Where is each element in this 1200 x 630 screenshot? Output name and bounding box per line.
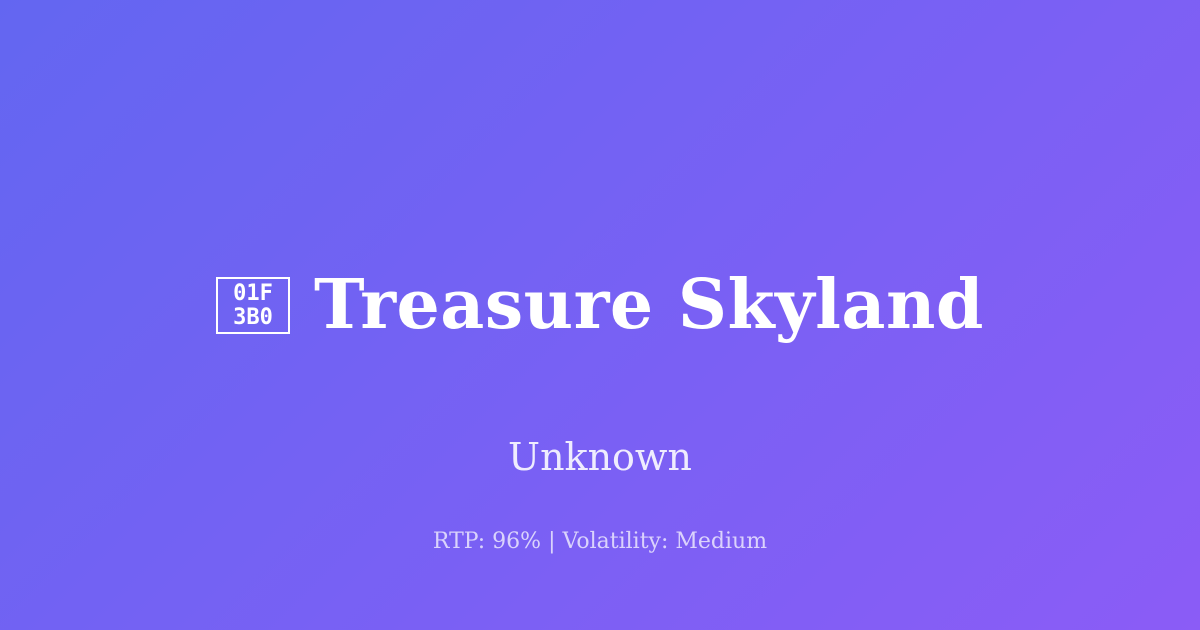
game-stats-line: RTP: 96% | Volatility: Medium — [0, 529, 1200, 555]
game-provider-subtitle: Unknown — [508, 437, 692, 479]
slot-machine-icon-codepoint-bottom: 3B0 — [233, 306, 273, 330]
slot-machine-icon-codepoint-top: 01F — [233, 282, 273, 306]
hero-section: 01F 3B0 Treasure Skyland Unknown — [0, 225, 1200, 479]
game-preview-card: 01F 3B0 Treasure Skyland Unknown RTP: 96… — [0, 0, 1200, 630]
slot-machine-icon: 01F 3B0 — [216, 277, 290, 334]
title-row: 01F 3B0 Treasure Skyland — [216, 225, 984, 385]
page-title: Treasure Skyland — [314, 271, 984, 340]
